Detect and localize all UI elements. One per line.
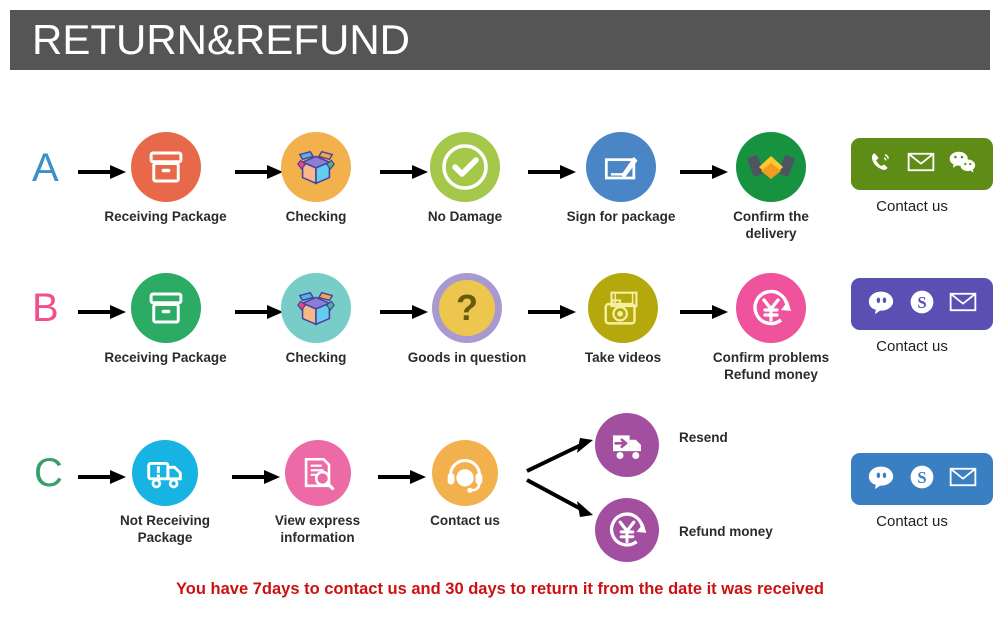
contact-label-a: Contact us	[851, 198, 973, 215]
archive-box-icon	[131, 132, 201, 202]
sign-pad-icon	[586, 132, 656, 202]
step-c-1: Not Receiving Package	[100, 440, 230, 547]
step-label: Confirm the delivery	[710, 209, 832, 243]
contact-icons-pill-b[interactable]: S	[851, 278, 993, 330]
contact-us-a[interactable]: Contact us	[851, 138, 973, 215]
step-a-1: Receiving Package	[98, 132, 233, 226]
trademanager-icon[interactable]	[867, 289, 895, 320]
archive-box-icon	[131, 273, 201, 343]
headset-icon	[432, 440, 498, 506]
contact-label-b: Contact us	[851, 338, 973, 355]
step-label: Contact us	[405, 513, 525, 530]
step-b-5: Confirm problems Refund money	[710, 273, 832, 384]
svg-text:S: S	[917, 468, 926, 487]
step-c-3: Contact us	[405, 440, 525, 530]
handshake-icon	[736, 132, 806, 202]
step-label: View express information	[255, 513, 380, 547]
step-label: Not Receiving Package	[100, 513, 230, 547]
row-label-c: C	[34, 453, 63, 493]
check-circle-icon	[430, 132, 500, 202]
delivery-truck-icon	[595, 413, 659, 477]
camera-icon	[588, 273, 658, 343]
svg-text:S: S	[917, 293, 926, 312]
contact-us-c[interactable]: S Contact us	[851, 453, 973, 530]
step-label: Checking	[256, 209, 376, 226]
header-banner: RETURN&REFUND	[10, 10, 990, 70]
skype-icon[interactable]: S	[908, 288, 936, 321]
step-label: Confirm problems Refund money	[710, 350, 832, 384]
step-a-5: Confirm the delivery	[710, 132, 832, 243]
contact-icons-pill-a[interactable]	[851, 138, 993, 190]
trademanager-icon[interactable]	[867, 464, 895, 495]
step-c-2: View express information	[255, 440, 380, 547]
branch-arrow-lower	[525, 475, 600, 520]
step-b-2: Checking	[256, 273, 376, 367]
flow-row-b: B Receiving Package	[0, 265, 1000, 390]
step-b-1: Receiving Package	[98, 273, 233, 367]
envelope-icon[interactable]	[907, 150, 935, 179]
step-b-3: ? Goods in question	[407, 273, 527, 367]
document-search-icon	[285, 440, 351, 506]
question-mark-icon: ?	[432, 273, 502, 343]
branch-arrow-upper	[525, 435, 600, 475]
envelope-icon[interactable]	[949, 465, 977, 494]
phone-call-icon[interactable]	[868, 149, 894, 180]
step-a-2: Checking	[256, 132, 376, 226]
page-title: RETURN&REFUND	[10, 19, 410, 61]
truck-alert-icon	[132, 440, 198, 506]
row-label-a: A	[32, 148, 59, 188]
flow-row-a: A Receiving Package	[0, 120, 1000, 235]
branch-label-refund: Refund money	[679, 524, 773, 539]
step-label: No Damage	[405, 209, 525, 226]
contact-label-c: Contact us	[851, 513, 973, 530]
step-a-3: No Damage	[405, 132, 525, 226]
step-a-4: Sign for package	[561, 132, 681, 226]
open-box-icon	[281, 132, 351, 202]
envelope-icon[interactable]	[949, 290, 977, 319]
open-box-icon	[281, 273, 351, 343]
branch-node-refund	[592, 498, 662, 562]
branch-node-resend	[592, 413, 662, 477]
wechat-icon[interactable]	[948, 150, 976, 179]
step-label: Receiving Package	[98, 350, 233, 367]
yen-refund-icon	[595, 498, 659, 562]
step-label: Sign for package	[561, 209, 681, 226]
policy-note: You have 7days to contact us and 30 days…	[0, 580, 1000, 599]
yen-refund-icon	[736, 273, 806, 343]
row-label-b: B	[32, 288, 59, 328]
skype-icon[interactable]: S	[908, 463, 936, 496]
step-b-4: Take videos	[563, 273, 683, 367]
step-label: Checking	[256, 350, 376, 367]
step-label: Take videos	[563, 350, 683, 367]
flow-row-c: C Not Receiving Package	[0, 420, 1000, 565]
contact-icons-pill-c[interactable]: S	[851, 453, 993, 505]
step-label: Receiving Package	[98, 209, 233, 226]
step-label: Goods in question	[407, 350, 527, 367]
branch-label-resend: Resend	[679, 430, 728, 445]
contact-us-b[interactable]: S Contact us	[851, 278, 973, 355]
